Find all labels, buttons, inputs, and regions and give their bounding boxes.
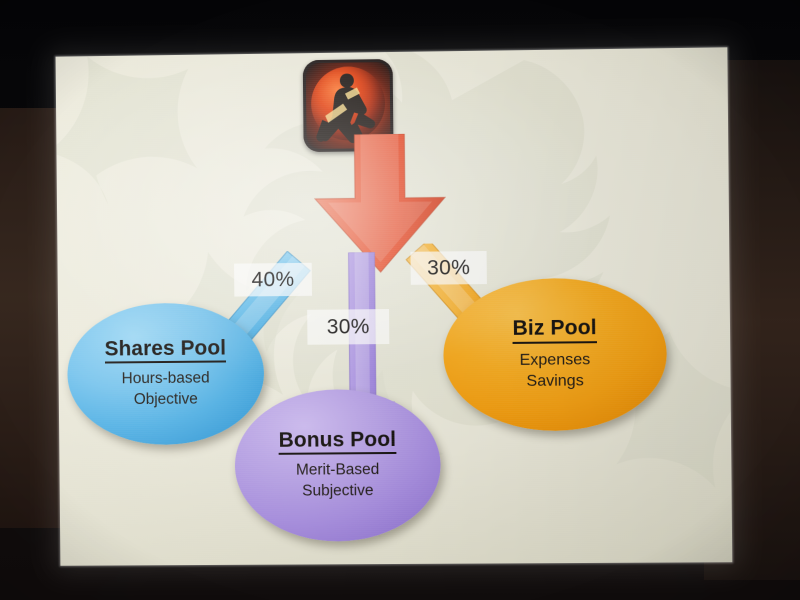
percent-label-biz: 30%	[410, 251, 486, 285]
pool-shares-line-2: Objective	[134, 389, 198, 410]
pool-shares-title: Shares Pool	[105, 337, 227, 363]
pool-bonus-line-2: Subjective	[302, 481, 374, 502]
pool-shares[interactable]: Shares Pool Hours-based Objective	[67, 302, 265, 445]
pool-biz-title: Biz Pool	[512, 317, 596, 343]
pool-biz-line-1: Expenses	[519, 349, 590, 371]
pool-biz[interactable]: Biz Pool Expenses Savings	[443, 277, 668, 431]
pool-bonus-line-1: Merit-Based	[296, 460, 380, 481]
pool-bonus-title: Bonus Pool	[279, 429, 397, 455]
pool-bonus[interactable]: Bonus Pool Merit-Based Subjective	[234, 389, 441, 542]
projection-screen: Shares Pool Hours-based Objective Bonus …	[56, 47, 733, 565]
pool-biz-line-2: Savings	[526, 370, 583, 392]
pool-shares-line-1: Hours-based	[122, 369, 210, 390]
slide-content: Shares Pool Hours-based Objective Bonus …	[56, 47, 733, 565]
percent-label-shares: 40%	[234, 263, 312, 297]
percent-label-bonus: 30%	[307, 309, 389, 345]
